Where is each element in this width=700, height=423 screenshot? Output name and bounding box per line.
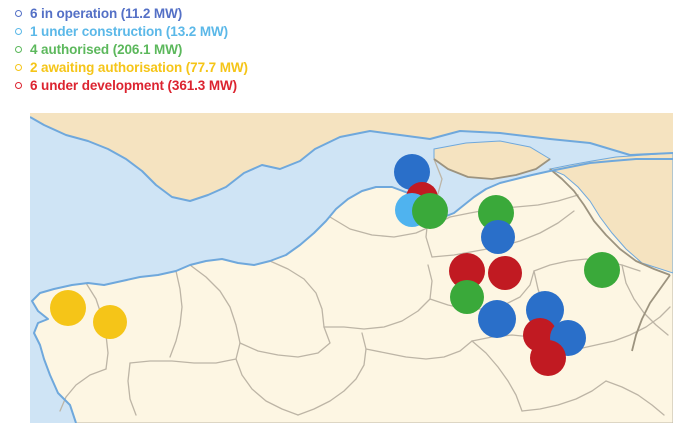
legend-item-label: 6 under development (361.3 MW) — [26, 77, 237, 94]
map-marker-authorised[interactable] — [412, 193, 448, 229]
map-marker-authorised[interactable] — [584, 252, 620, 288]
legend-item-under-construction[interactable]: 1 under construction (13.2 MW) — [10, 23, 700, 40]
legend-item-in-operation[interactable]: 6 in operation (11.2 MW) — [10, 5, 700, 22]
map-marker-authorised[interactable] — [450, 280, 484, 314]
legend-item-label: 2 awaiting authorisation (77.7 MW) — [26, 59, 248, 76]
map-marker-in-operation[interactable] — [478, 300, 516, 338]
legend-item-label: 1 under construction (13.2 MW) — [26, 23, 228, 40]
legend-item-awaiting-authorisation[interactable]: 2 awaiting authorisation (77.7 MW) — [10, 59, 700, 76]
circle-outline-icon — [10, 5, 26, 22]
legend-item-label: 6 in operation (11.2 MW) — [26, 5, 182, 22]
circle-outline-icon — [10, 59, 26, 76]
legend-item-authorised[interactable]: 4 authorised (206.1 MW) — [10, 41, 700, 58]
map-marker-awaiting-authorisation[interactable] — [93, 305, 127, 339]
circle-outline-icon — [10, 77, 26, 94]
map-marker-in-operation[interactable] — [481, 220, 515, 254]
status-legend: 6 in operation (11.2 MW) 1 under constru… — [0, 0, 700, 110]
map-marker-under-development[interactable] — [488, 256, 522, 290]
legend-item-label: 4 authorised (206.1 MW) — [26, 41, 182, 58]
map-marker-awaiting-authorisation[interactable] — [50, 290, 86, 326]
legend-item-under-development[interactable]: 6 under development (361.3 MW) — [10, 77, 700, 94]
map-markers-layer — [30, 113, 673, 423]
map-container[interactable] — [30, 113, 673, 423]
circle-outline-icon — [10, 23, 26, 40]
circle-outline-icon — [10, 41, 26, 58]
map-marker-under-development[interactable] — [530, 340, 566, 376]
